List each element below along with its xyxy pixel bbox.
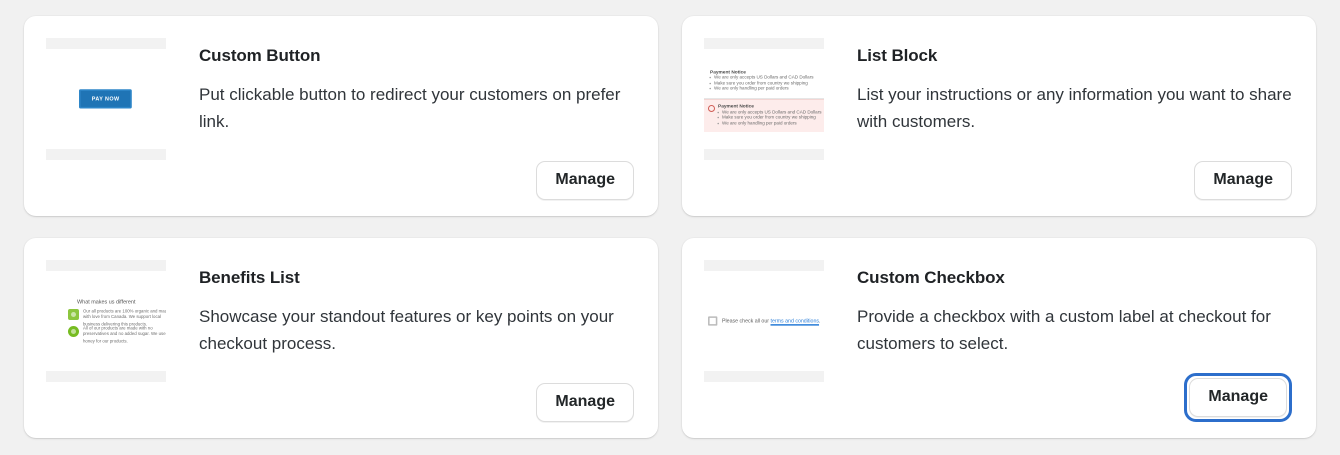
card-actions: Manage — [199, 383, 636, 422]
terms-and-conditions-link: terms and conditions — [770, 318, 819, 324]
card-description: Provide a checkbox with a custom label a… — [857, 303, 1294, 357]
thumbnail-bottom-bar — [46, 371, 166, 382]
feature-card-custom-button: PAY NOW Custom Button Put clickable butt… — [24, 16, 658, 216]
thumbnail-content: Payment Notice We are only accepts US Do… — [704, 49, 824, 149]
feature-card-benefits-list: What makes us different Our all products… — [24, 238, 658, 438]
list-preview-item: We are only handling per paid orders — [722, 121, 822, 126]
manage-button-custom-button[interactable]: Manage — [536, 161, 634, 200]
benefits-preview-heading: What makes us different — [77, 299, 135, 305]
benefits-preview-item: All of our products are made with no pre… — [61, 325, 152, 338]
card-title: List Block — [857, 45, 1294, 67]
benefits-preview-item: Our all products are 100% organic and ma… — [61, 308, 152, 321]
card-actions: Manage — [199, 161, 636, 200]
pay-now-button-preview: PAY NOW — [79, 89, 132, 109]
card-title: Benefits List — [199, 267, 636, 289]
thumbnail-content: PAY NOW — [46, 49, 166, 149]
card-body: Benefits List Showcase your standout fea… — [166, 258, 636, 422]
manage-button-list-block[interactable]: Manage — [1194, 161, 1292, 200]
manage-button-benefits-list[interactable]: Manage — [536, 383, 634, 422]
benefits-preview-item-text: All of our products are made with no pre… — [83, 325, 167, 344]
focus-ring: Manage — [1184, 373, 1292, 422]
manage-button-custom-checkbox[interactable]: Manage — [1189, 378, 1287, 417]
thumbnail-bottom-bar — [46, 149, 166, 160]
checkbox-preview-label: Please check all our terms and condition… — [722, 318, 820, 324]
feature-card-grid: PAY NOW Custom Button Put clickable butt… — [0, 0, 1340, 454]
card-body: List Block List your instructions or any… — [824, 36, 1294, 200]
thumbnail-list-block: Payment Notice We are only accepts US Do… — [704, 38, 824, 160]
thumbnail-content: What makes us different Our all products… — [46, 271, 166, 371]
card-description: List your instructions or any informatio… — [857, 81, 1294, 135]
list-preview-alert-section: Payment Notice We are only accepts US Do… — [704, 99, 824, 132]
card-body: Custom Button Put clickable button to re… — [166, 36, 636, 200]
thumbnail-benefits-list: What makes us different Our all products… — [46, 260, 166, 382]
card-actions: Manage — [857, 373, 1294, 422]
checkbox-preview: Please check all our terms and condition… — [708, 316, 820, 325]
list-preview: Payment Notice We are only accepts US Do… — [704, 66, 824, 133]
card-title: Custom Button — [199, 45, 636, 67]
leaf-badge-icon — [68, 309, 79, 320]
card-actions: Manage — [857, 161, 1294, 200]
checkbox-label-prefix: Please check all our — [722, 318, 771, 324]
card-description: Put clickable button to redirect your cu… — [199, 81, 636, 135]
feature-card-list-block: Payment Notice We are only accepts US Do… — [682, 16, 1316, 216]
thumbnail-content: Please check all our terms and condition… — [704, 271, 824, 371]
thumbnail-top-bar — [704, 260, 824, 271]
thumbnail-top-bar — [46, 38, 166, 49]
thumbnail-top-bar — [46, 260, 166, 271]
feature-card-custom-checkbox: Please check all our terms and condition… — [682, 238, 1316, 438]
thumbnail-custom-button: PAY NOW — [46, 38, 166, 160]
thumbnail-custom-checkbox: Please check all our terms and condition… — [704, 260, 824, 382]
thumbnail-top-bar — [704, 38, 824, 49]
alert-circle-icon — [708, 105, 715, 112]
thumbnail-bottom-bar — [704, 149, 824, 160]
card-title: Custom Checkbox — [857, 267, 1294, 289]
list-preview-item: We are only handling per paid orders — [714, 87, 824, 92]
card-description: Showcase your standout features or key p… — [199, 303, 636, 357]
organic-badge-icon — [68, 326, 79, 337]
alert-section-content: Payment Notice We are only accepts US Do… — [718, 104, 787, 127]
card-body: Custom Checkbox Provide a checkbox with … — [824, 258, 1294, 422]
thumbnail-bottom-bar — [704, 371, 824, 382]
checkbox-label-suffix: . — [819, 318, 820, 324]
list-preview-plain-section: Payment Notice We are only accepts US Do… — [704, 66, 824, 99]
checkbox-icon — [708, 316, 717, 325]
